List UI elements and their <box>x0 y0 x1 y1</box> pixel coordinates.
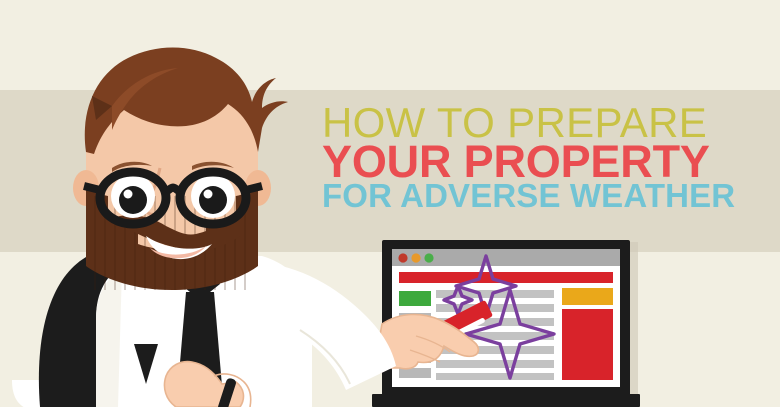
glasses-bridge <box>166 188 180 193</box>
pupil-right <box>199 186 227 214</box>
eye-highlight-right <box>204 190 213 199</box>
glasses-temple-right <box>246 186 262 190</box>
illustration-canvas: HOW TO PREPARE YOUR PROPERTY FOR ADVERSE… <box>0 0 780 407</box>
pupil-left <box>119 186 147 214</box>
browser-right-panel-body <box>562 309 613 380</box>
browser-right-panel-top <box>562 288 613 305</box>
maximize-dot[interactable] <box>424 253 433 262</box>
eye-highlight-left <box>124 190 133 199</box>
bearded-man-presenter <box>0 0 420 407</box>
glasses-temple-left <box>84 186 100 190</box>
